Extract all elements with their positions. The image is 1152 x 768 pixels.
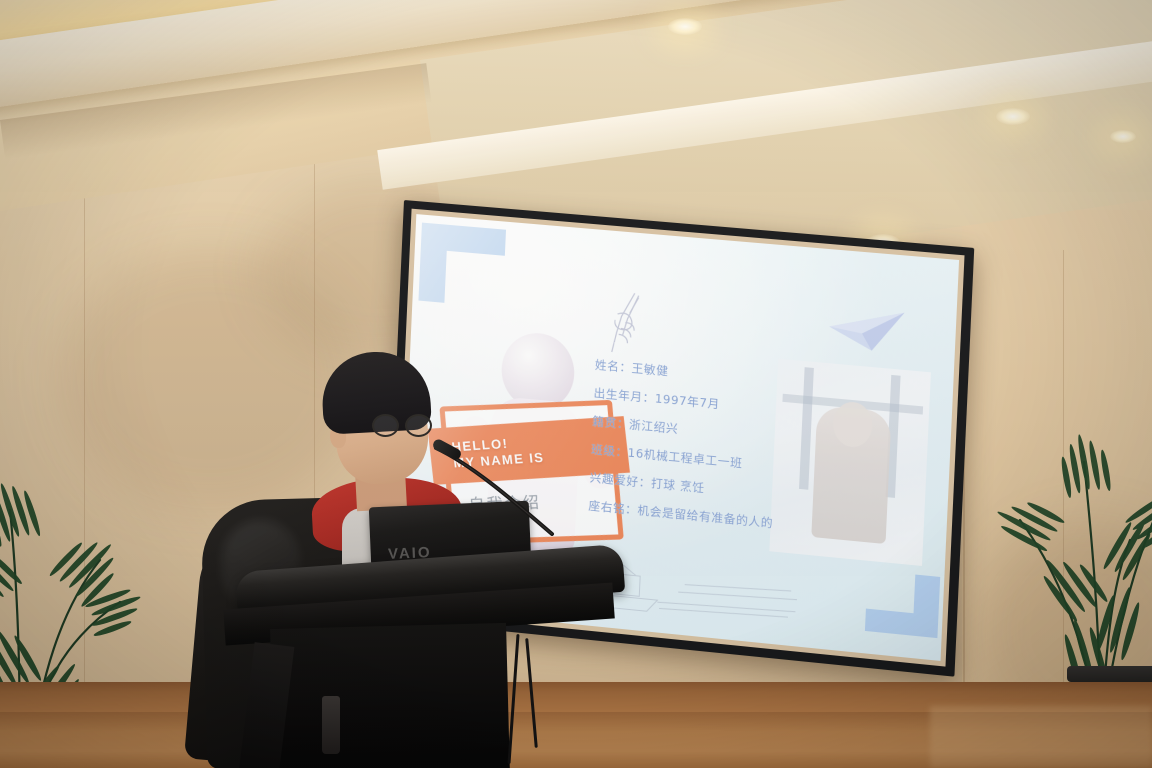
- podium-column: [270, 623, 510, 768]
- bottle: [322, 696, 340, 754]
- info-line-hometown: 籍贯：浙江绍兴: [592, 413, 778, 446]
- floor-reflection: [930, 706, 1152, 768]
- hand-with-pen-icon: [601, 289, 661, 361]
- microphone[interactable]: [430, 440, 560, 540]
- info-line-name: 姓名：王敏健: [595, 357, 781, 390]
- slide-corner-decoration-top-left: [418, 223, 506, 308]
- power-cable: [525, 638, 538, 748]
- downlight-icon: [996, 108, 1030, 125]
- photo-structure-bar: [799, 367, 814, 490]
- glasses-icon: [372, 414, 434, 438]
- podium: [236, 548, 624, 768]
- info-line-hobbies: 兴趣爱好：打球 烹饪: [589, 469, 774, 503]
- plant-pot-rim: [1067, 666, 1152, 682]
- paper-plane-icon: [826, 302, 907, 356]
- slide-corner-decoration-bottom-right: [865, 570, 940, 638]
- glasses-lens-right: [405, 414, 432, 437]
- downlight-icon: [1110, 130, 1136, 143]
- slide-photo: [769, 359, 931, 566]
- power-cable: [507, 634, 519, 764]
- slide-info-list: 姓名：王敏健 出生年月：1997年7月 籍贯：浙江绍兴 班级：16机械工程卓工一…: [588, 357, 780, 532]
- info-line-class: 班级：16机械工程卓工一班: [591, 441, 777, 474]
- info-line-birthdate: 出生年月：1997年7月: [593, 385, 779, 418]
- glasses-lens-left: [372, 414, 399, 437]
- presentation-room-photo: HELLO! MY NAME IS 自我介绍 姓名：王敏健 出生年月：1997年…: [0, 0, 1152, 768]
- downlight-icon: [668, 18, 702, 35]
